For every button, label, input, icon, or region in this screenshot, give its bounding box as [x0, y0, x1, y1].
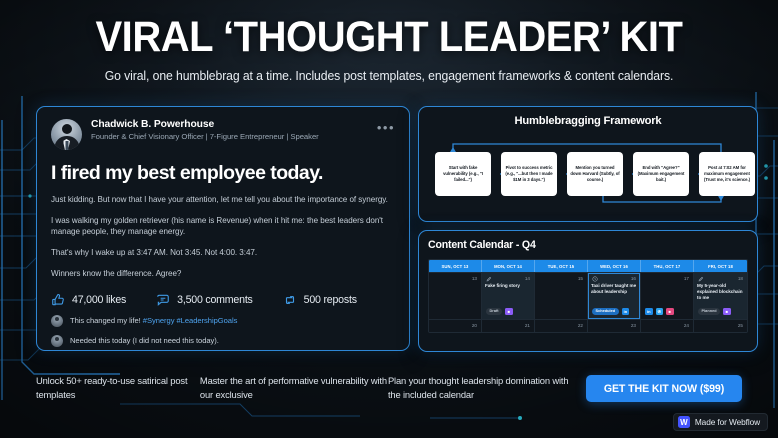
flow-step-2[interactable]: Pivot to success metric (e.g., "...but t… [501, 152, 557, 196]
day-number: 14 [525, 276, 530, 281]
calendar-grid: SUN, OCT 13 MON, OCT 14 TUE, OCT 15 WED,… [428, 259, 748, 333]
event-chips: Planned ■ [698, 308, 744, 316]
reposts-label: 500 reposts [304, 294, 357, 306]
calendar-cell[interactable]: 24 [641, 319, 694, 332]
humblebragging-framework-panel: Humblebragging Framework Start with fake… [418, 106, 758, 222]
day-header: WED, OCT 16 [588, 260, 641, 272]
day-number: 21 [525, 323, 530, 328]
webflow-icon: W [678, 416, 690, 428]
social-icon[interactable]: ■ [505, 308, 513, 316]
post-paragraph: Just kidding. But now that I have your a… [51, 194, 395, 206]
avatar [51, 119, 82, 150]
status-badge[interactable]: Draft [486, 308, 502, 315]
calendar-cell[interactable]: 22 [535, 319, 588, 332]
calendar-cell[interactable]: 20 [429, 319, 482, 332]
badge-label: Made for Webflow [695, 417, 760, 427]
engagement-stats: 47,000 likes 3,500 comments 500 reposts [51, 293, 395, 307]
status-badge[interactable]: Planned [698, 308, 720, 315]
day-number: 16 [631, 276, 636, 281]
event-chips: in ✇ ■ [645, 308, 690, 316]
event-title: Fake firing story [485, 283, 531, 289]
feature-list: Unlock 50+ ready-to-use satirical post t… [36, 374, 576, 401]
post-paragraph: Winners know the difference. Agree? [51, 268, 395, 280]
commenter-avatar [51, 315, 63, 327]
commenter-avatar [51, 335, 63, 347]
day-header: MON, OCT 14 [482, 260, 535, 272]
likes-label: 47,000 likes [72, 294, 126, 306]
calendar-week-1: 13 14 Fake firing story Draft ■ 15 16 [429, 272, 747, 319]
feature-item: Plan your thought leadership domination … [388, 374, 576, 401]
post-headline: I fired my best employee today. [51, 162, 395, 185]
calendar-cell[interactable]: 18 My 5-year-old explained blockchain to… [694, 272, 747, 319]
pencil-icon [486, 276, 492, 282]
calendar-cell[interactable]: 15 [535, 272, 588, 319]
content-calendar-panel: Content Calendar - Q4 SUN, OCT 13 MON, O… [418, 230, 758, 352]
flow-step-3[interactable]: Mention you turned down Harvard (Subtly,… [567, 152, 623, 196]
thumbs-up-icon [51, 293, 65, 307]
event-title: My 5-year-old explained blockchain to me [697, 283, 744, 302]
flow-step-1[interactable]: Start with fake vulnerability (e.g., "I … [435, 152, 491, 196]
twitter-icon[interactable]: ✇ [656, 308, 664, 316]
reposts-stat[interactable]: 500 reposts [283, 293, 357, 307]
pencil-icon [698, 276, 704, 282]
calendar-cell[interactable]: 14 Fake firing story Draft ■ [482, 272, 535, 319]
author-title: Founder & Chief Visionary Officer | 7-Fi… [91, 132, 319, 141]
calendar-cell[interactable]: 13 [429, 272, 482, 319]
comment-row: Needed this today (I did not need this t… [51, 335, 395, 347]
comments-stat[interactable]: 3,500 comments [156, 293, 253, 307]
comment-text: Needed this today (I did not need this t… [70, 336, 219, 345]
calendar-cell[interactable]: 25 [694, 319, 747, 332]
day-number: 22 [578, 323, 583, 328]
framework-title: Humblebragging Framework [429, 115, 747, 127]
flow-step-4[interactable]: End with "Agree?" (Maximum engagement ba… [633, 152, 689, 196]
page-header: VIRAL ‘THOUGHT LEADER’ KIT Go viral, one… [0, 16, 778, 83]
comment-icon [156, 293, 170, 307]
day-number: 13 [472, 276, 477, 281]
linkedin-icon[interactable]: in [622, 308, 630, 316]
calendar-cell[interactable]: 21 [482, 319, 535, 332]
page-title: VIRAL ‘THOUGHT LEADER’ KIT [27, 16, 751, 60]
comment-row: This changed my life! #Synergy #Leadersh… [51, 315, 395, 327]
day-number: 20 [472, 323, 477, 328]
day-header: FRI, OCT 18 [694, 260, 747, 272]
calendar-day-headers: SUN, OCT 13 MON, OCT 14 TUE, OCT 15 WED,… [429, 260, 747, 272]
comments-label: 3,500 comments [177, 294, 253, 306]
post-paragraph: That's why I wake up at 3:47 AM. Not 3:4… [51, 247, 395, 259]
author-name: Chadwick B. Powerhouse [91, 119, 319, 130]
more-options-icon[interactable]: ••• [377, 119, 395, 134]
repost-icon [283, 293, 297, 307]
sample-post-card: Chadwick B. Powerhouse Founder & Chief V… [36, 106, 410, 351]
day-number: 23 [631, 323, 636, 328]
post-paragraph: I was walking my golden retriever (his n… [51, 215, 395, 238]
calendar-cell[interactable]: 17 in ✇ ■ [641, 272, 694, 319]
made-for-webflow-badge[interactable]: W Made for Webflow [673, 413, 768, 431]
feature-item: Unlock 50+ ready-to-use satirical post t… [36, 374, 200, 401]
event-title: Taxi driver taught me about leadership [591, 283, 637, 295]
kit-landing-page: VIRAL ‘THOUGHT LEADER’ KIT Go viral, one… [0, 0, 778, 438]
day-header: SUN, OCT 13 [429, 260, 482, 272]
page-subtitle: Go viral, one humblebrag at a time. Incl… [12, 69, 767, 83]
status-badge[interactable]: Scheduled [592, 308, 619, 315]
instagram-icon[interactable]: ■ [666, 308, 674, 316]
comment-text: This changed my life! #Synergy #Leadersh… [70, 316, 237, 325]
likes-stat[interactable]: 47,000 likes [51, 293, 126, 307]
calendar-cell[interactable]: 23 [588, 319, 641, 332]
flow-step-5[interactable]: Post at 7:02 AM for maximum engagement (… [699, 152, 755, 196]
day-number: 17 [684, 276, 689, 281]
framework-flowchart: Start with fake vulnerability (e.g., "I … [429, 143, 747, 205]
calendar-week-2: 20 21 22 23 24 25 [429, 319, 747, 332]
calendar-cell[interactable]: 16 Taxi driver taught me about leadershi… [588, 272, 641, 319]
event-chips: Draft ■ [486, 308, 531, 316]
feature-item: Master the art of performative vulnerabi… [200, 374, 388, 401]
get-the-kit-button[interactable]: GET THE KIT NOW ($99) [586, 375, 742, 402]
day-header: TUE, OCT 15 [535, 260, 588, 272]
day-number: 24 [684, 323, 689, 328]
day-number: 15 [578, 276, 583, 281]
post-author-row: Chadwick B. Powerhouse Founder & Chief V… [51, 119, 395, 150]
day-number: 25 [738, 323, 743, 328]
social-icon[interactable]: ■ [723, 308, 731, 316]
day-number: 18 [738, 276, 743, 281]
clock-icon [592, 276, 598, 282]
event-chips: Scheduled in [592, 308, 637, 316]
calendar-title: Content Calendar - Q4 [428, 239, 748, 251]
day-header: THU, OCT 17 [641, 260, 694, 272]
linkedin-icon[interactable]: in [645, 308, 653, 316]
